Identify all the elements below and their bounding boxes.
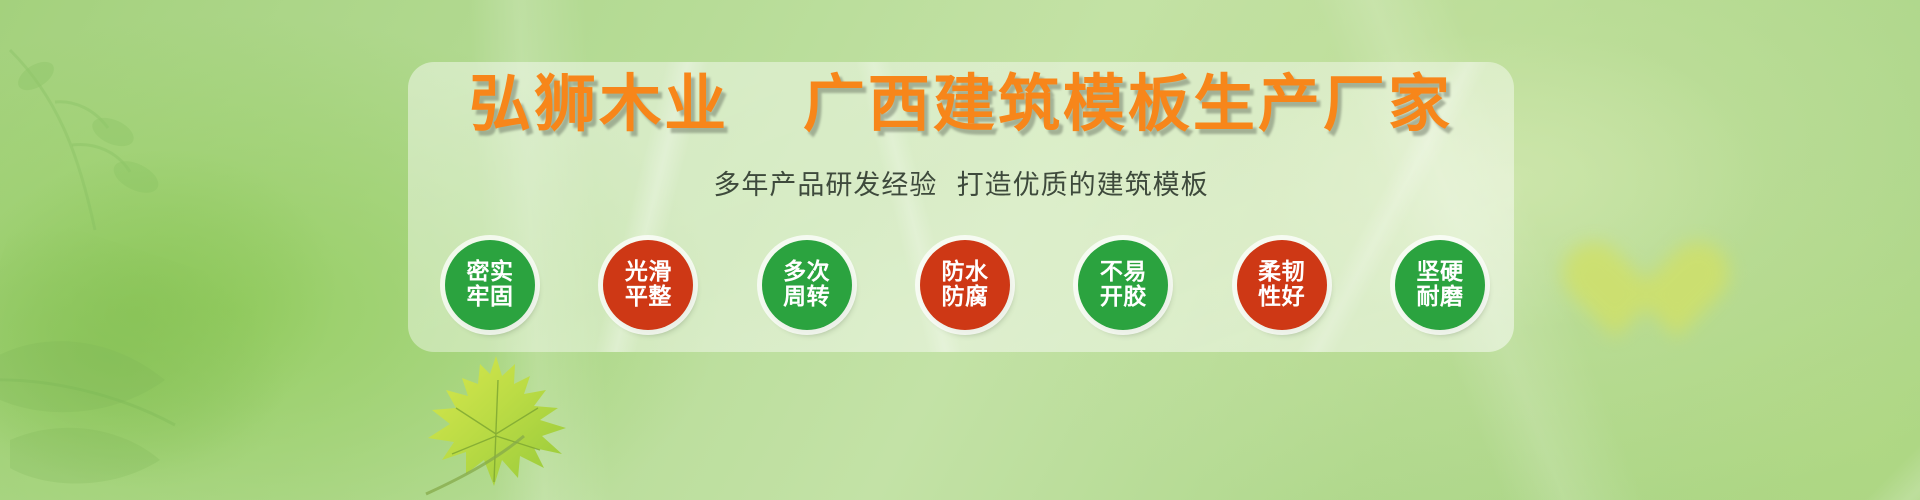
badge-line-1: 密实 [467,260,514,285]
banner-subtitle: 多年产品研发经验 打造优质的建筑模板 [408,166,1514,206]
leaf-stem-icon [420,430,540,500]
feature-badge[interactable]: 坚硬 耐磨 [1395,240,1485,330]
heart-leaf-icon [1585,246,1705,351]
badge-line-1: 防水 [941,260,988,285]
badge-line-1: 柔韧 [1258,260,1305,285]
badge-line-1: 不易 [1100,260,1147,285]
badge-line-1: 光滑 [625,260,672,285]
feature-badge[interactable]: 密实 牢固 [445,240,535,330]
feature-badge-row: 密实 牢固 光滑 平整 多次 周转 防水 防腐 不易 开胶 柔韧 性好 坚硬 耐… [445,230,1485,340]
twig-icon [0,40,230,340]
feature-badge[interactable]: 多次 周转 [762,240,852,330]
badge-line-2: 周转 [783,285,830,310]
badge-line-2: 防腐 [941,285,988,310]
feature-badge[interactable]: 光滑 平整 [603,240,693,330]
badge-line-2: 耐磨 [1416,285,1463,310]
branch-icon [0,300,250,500]
banner-headline: 弘狮木业 广西建筑模板生产厂家 [408,66,1514,142]
feature-badge[interactable]: 防水 防腐 [920,240,1010,330]
badge-line-1: 坚硬 [1416,260,1463,285]
feature-badge[interactable]: 不易 开胶 [1078,240,1168,330]
badge-line-2: 开胶 [1100,285,1147,310]
feature-badge[interactable]: 柔韧 性好 [1237,240,1327,330]
badge-line-2: 性好 [1258,285,1305,310]
badge-line-2: 牢固 [467,285,514,310]
badge-line-2: 平整 [625,285,672,310]
badge-line-1: 多次 [783,260,830,285]
